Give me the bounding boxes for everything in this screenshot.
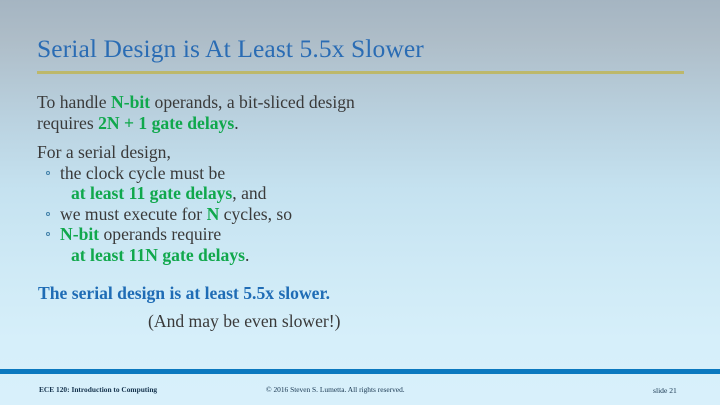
bullet-2-text-lead: we must execute for bbox=[60, 204, 207, 224]
emphasis-n-bit-lead: N-bit bbox=[60, 224, 99, 244]
paragraph-bit-sliced: To handle N-bit operands, a bit-sliced d… bbox=[37, 92, 685, 133]
bullet-circle-icon bbox=[46, 212, 50, 216]
emphasis-2n-plus-1-gate-delays: 2N + 1 gate delays bbox=[98, 113, 234, 133]
bullet-circle-icon bbox=[46, 171, 50, 175]
list-item: we must execute for N cycles, so bbox=[44, 204, 685, 225]
emphasis-at-least-11-gate-delays: at least 11 gate delays bbox=[71, 183, 232, 203]
emphasis-n-bit: N-bit bbox=[111, 92, 150, 112]
text-to-handle: To handle bbox=[37, 92, 111, 112]
bullet-1-subline: at least 11 gate delays, and bbox=[60, 183, 685, 204]
paragraph-bit-sliced-line2: requires 2N + 1 gate delays. bbox=[37, 113, 685, 134]
slide-footer: ECE 120: Introduction to Computing © 201… bbox=[0, 374, 720, 405]
bullet-3-text: operands require bbox=[99, 224, 221, 244]
bullet-3-subline-tail: . bbox=[245, 245, 249, 265]
conclusion-statement: The serial design is at least 5.5x slowe… bbox=[38, 283, 330, 304]
emphasis-n: N bbox=[207, 204, 220, 224]
bullet-1-subline-tail: , and bbox=[232, 183, 266, 203]
slide-canvas: Serial Design is At Least 5.5x Slower To… bbox=[0, 0, 720, 405]
footer-course-label: ECE 120: Introduction to Computing bbox=[39, 385, 157, 394]
text-requires: requires bbox=[37, 113, 98, 133]
list-item: the clock cycle must be at least 11 gate… bbox=[44, 163, 685, 204]
emphasis-at-least-11n-gate-delays: at least 11N gate delays bbox=[71, 245, 245, 265]
bullet-1-text: the clock cycle must be bbox=[60, 163, 225, 183]
bullet-2-text-tail: cycles, so bbox=[219, 204, 292, 224]
footer-slide-number: slide 21 bbox=[653, 386, 677, 395]
text-operands-design: operands, a bit-sliced design bbox=[150, 92, 355, 112]
page-title: Serial Design is At Least 5.5x Slower bbox=[37, 34, 424, 64]
bullet-circle-icon bbox=[46, 232, 50, 236]
text-period: . bbox=[234, 113, 238, 133]
footer-copyright: © 2016 Steven S. Lumetta. All rights res… bbox=[266, 385, 405, 394]
aside-note: (And may be even slower!) bbox=[148, 311, 340, 332]
bullet-list: the clock cycle must be at least 11 gate… bbox=[37, 163, 685, 266]
title-underline-rule bbox=[37, 71, 684, 74]
bullet-3-subline: at least 11N gate delays. bbox=[60, 245, 685, 266]
slide-body: To handle N-bit operands, a bit-sliced d… bbox=[37, 92, 685, 265]
paragraph-spacer bbox=[37, 133, 685, 142]
list-item: N-bit operands require at least 11N gate… bbox=[44, 224, 685, 265]
paragraph-bit-sliced-line1: To handle N-bit operands, a bit-sliced d… bbox=[37, 92, 685, 113]
paragraph-serial-intro: For a serial design, bbox=[37, 142, 685, 163]
